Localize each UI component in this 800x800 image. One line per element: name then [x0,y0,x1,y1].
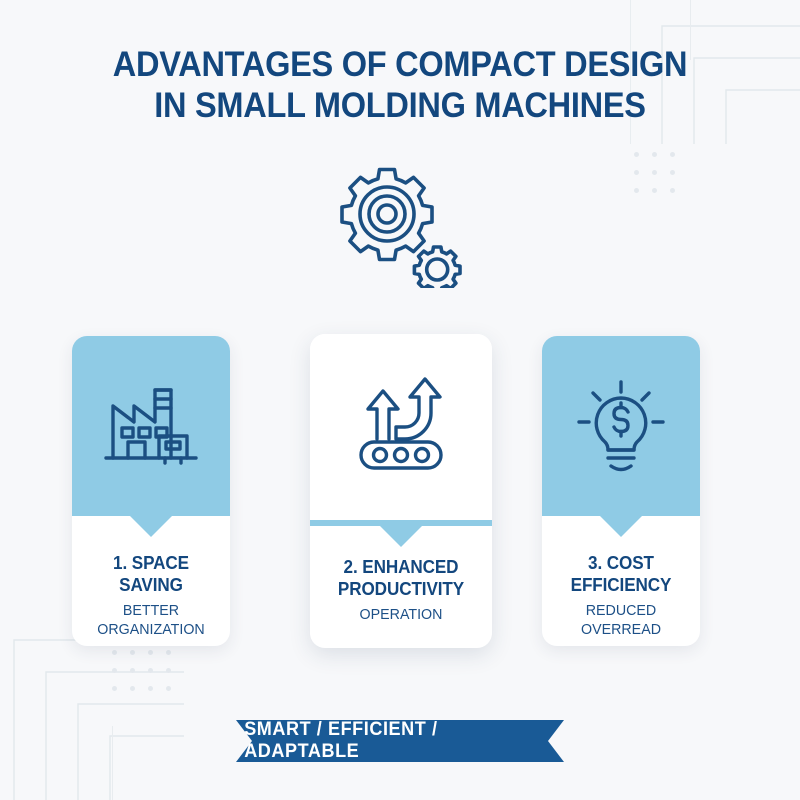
card-2-heading-line-2: PRODUCTIVITY [321,578,481,600]
card-2-notch [380,526,422,547]
page-title-line-2: IN SMALL MOLDING MACHINES [28,85,772,126]
page-title-line-1: ADVANTAGES OF COMPACT DESIGN [113,45,687,84]
card-2-icon-panel [310,334,492,526]
card-3-subtitle: REDUCED OVERREAD [553,601,690,639]
gear-settings-icon [334,163,466,288]
tagline-text: SMART / EFFICIENT / ADAPTABLE [244,720,556,762]
card-3-heading: 3. COST EFFICIENCY [553,552,690,596]
factory-icon [101,374,201,474]
card-1-notch [130,516,172,537]
card-1-body: 1. SPACE SAVING BETTER ORGANIZATION [72,552,230,639]
advantages-card-row: 1. SPACE SAVING BETTER ORGANIZATION 2. E… [0,330,800,660]
card-2-heading-line-1: 2. ENHANCED [321,556,481,578]
card-3-notch [600,516,642,537]
card-1-icon-panel [72,336,230,516]
card-1-subtitle: BETTER ORGANIZATION [83,601,220,639]
card-1-heading: 1. SPACE SAVING [83,552,220,596]
accent-line-bottom-left [112,726,113,800]
conveyor-growth-icon [349,376,453,480]
card-3-body: 3. COST EFFICIENCY REDUCED OVERREAD [542,552,700,639]
card-3-icon-panel [542,336,700,516]
advantage-card-1[interactable]: 1. SPACE SAVING BETTER ORGANIZATION [72,336,230,646]
card-2-body: 2. ENHANCED PRODUCTIVITY OPERATION [310,556,492,624]
card-2-subtitle: OPERATION [321,605,481,624]
advantage-card-2[interactable]: 2. ENHANCED PRODUCTIVITY OPERATION [310,334,492,648]
page-title: ADVANTAGES OF COMPACT DESIGN IN SMALL MO… [28,44,772,126]
tagline-ribbon: SMART / EFFICIENT / ADAPTABLE [236,720,564,762]
lightbulb-dollar-icon [570,374,672,478]
advantage-card-3[interactable]: 3. COST EFFICIENCY REDUCED OVERREAD [542,336,700,646]
